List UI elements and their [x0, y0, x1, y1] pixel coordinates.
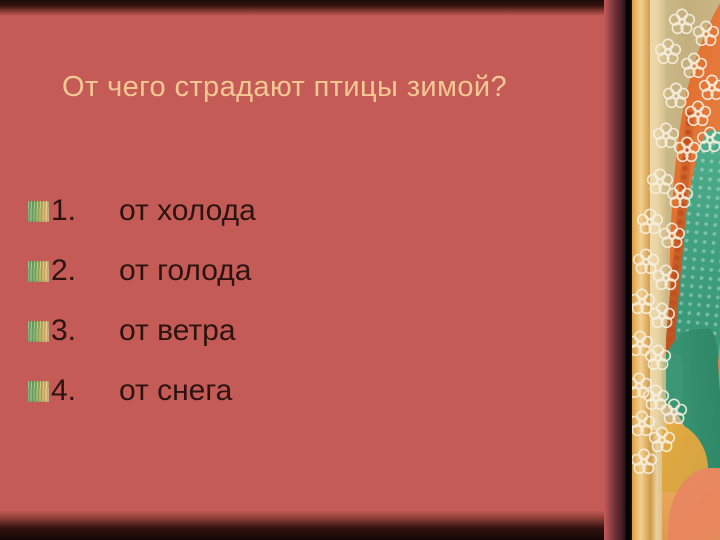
list-item-label: от голода: [119, 254, 588, 288]
list-item-number: 1.: [51, 194, 119, 228]
top-shadow-band: [0, 0, 640, 16]
list-item-label: от ветра: [119, 314, 588, 348]
bottom-shadow-band: [0, 510, 640, 540]
list-item[interactable]: 1. от холода: [28, 181, 588, 241]
woven-square-bullet-icon: [28, 201, 49, 222]
list-item-number: 2.: [51, 254, 119, 288]
presentation-slide: От чего страдают птицы зимой? 1. от холо…: [0, 0, 720, 540]
woven-square-bullet-icon: [28, 381, 49, 402]
answer-options-list: 1. от холода 2. от голода 3. от ветра 4.…: [28, 181, 588, 421]
list-item-label: от снега: [119, 374, 588, 408]
list-item[interactable]: 4. от снега: [28, 361, 588, 421]
list-item[interactable]: 2. от голода: [28, 241, 588, 301]
list-item-number: 4.: [51, 374, 119, 408]
list-item[interactable]: 3. от ветра: [28, 301, 588, 361]
gold-highlight-band: [650, 0, 666, 430]
list-item-label: от холода: [119, 194, 588, 228]
woven-square-bullet-icon: [28, 261, 49, 282]
list-item-number: 3.: [51, 314, 119, 348]
woven-square-bullet-icon: [28, 321, 49, 342]
slide-title: От чего страдают птицы зимой?: [62, 70, 682, 104]
